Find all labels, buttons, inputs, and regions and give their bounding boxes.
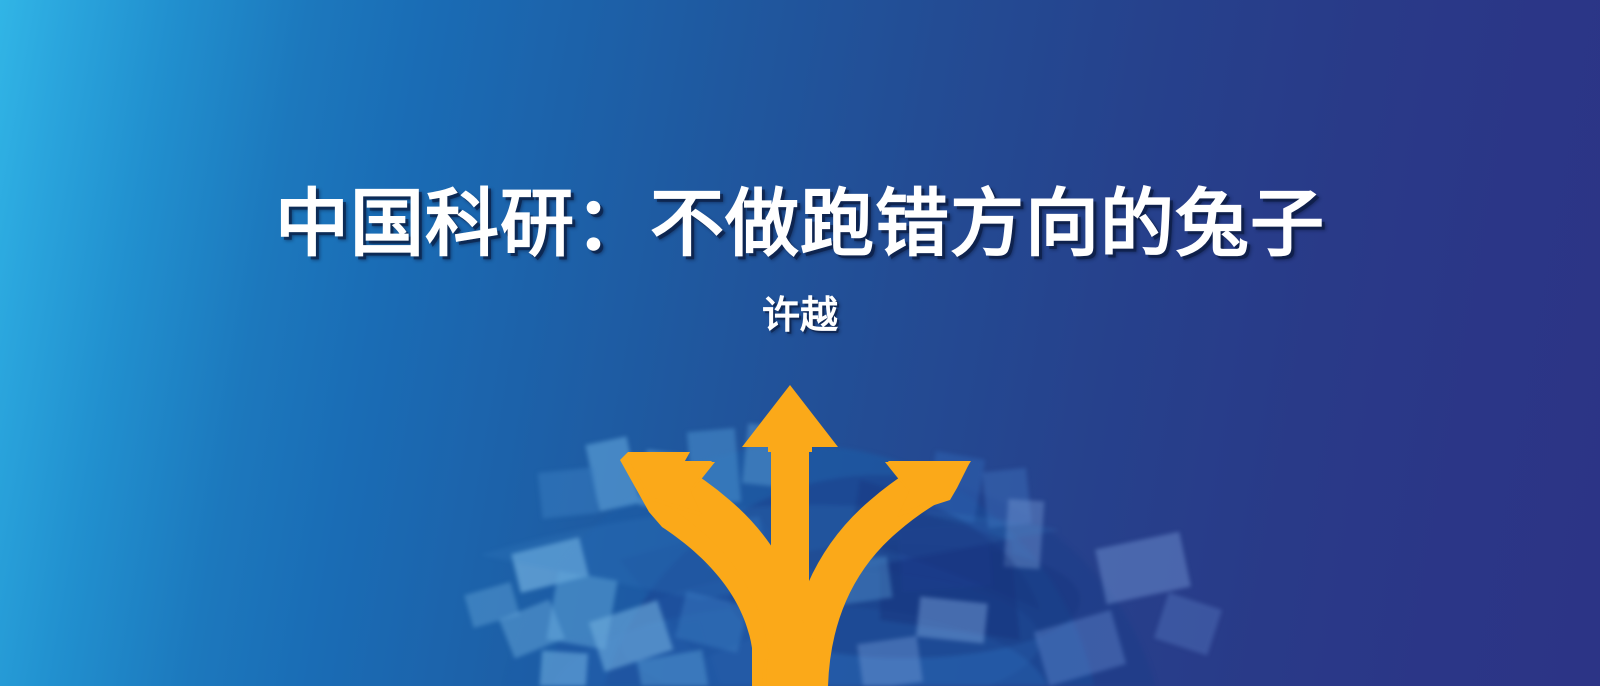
globe-sphere-shadow (595, 475, 1165, 686)
arrow-trunk-body (766, 606, 822, 686)
arrow-center (742, 385, 838, 686)
author-name: 许越 (0, 290, 1600, 340)
arrow-left-branch (620, 452, 778, 686)
globe-latitude-band (550, 605, 1050, 686)
globe-shards-backdrop (0, 0, 1600, 686)
globe-ribbon (850, 480, 1040, 610)
shard-cluster-right (857, 451, 1222, 686)
arrow-left (629, 461, 795, 686)
globe-ribbon (480, 505, 1060, 600)
arrow-trunk (762, 620, 818, 686)
globe-latitude-band (620, 570, 1040, 686)
globe-landmass (620, 520, 840, 660)
page-title: 中国科研：不做跑错方向的兔子 (0, 176, 1600, 272)
presentation-slide: 中国科研：不做跑错方向的兔子 许越 (0, 0, 1600, 686)
globe-landmass (540, 620, 720, 686)
shard-cluster-left (464, 436, 709, 686)
slide-background-artwork (0, 0, 1600, 686)
shard-cluster-center (675, 423, 892, 653)
globe-landmass (880, 500, 1020, 640)
globe-latitude-band (730, 542, 1080, 658)
globe-sphere (500, 445, 1100, 686)
three-way-arrow-graphic (0, 0, 1600, 686)
arrow-right (807, 461, 971, 686)
